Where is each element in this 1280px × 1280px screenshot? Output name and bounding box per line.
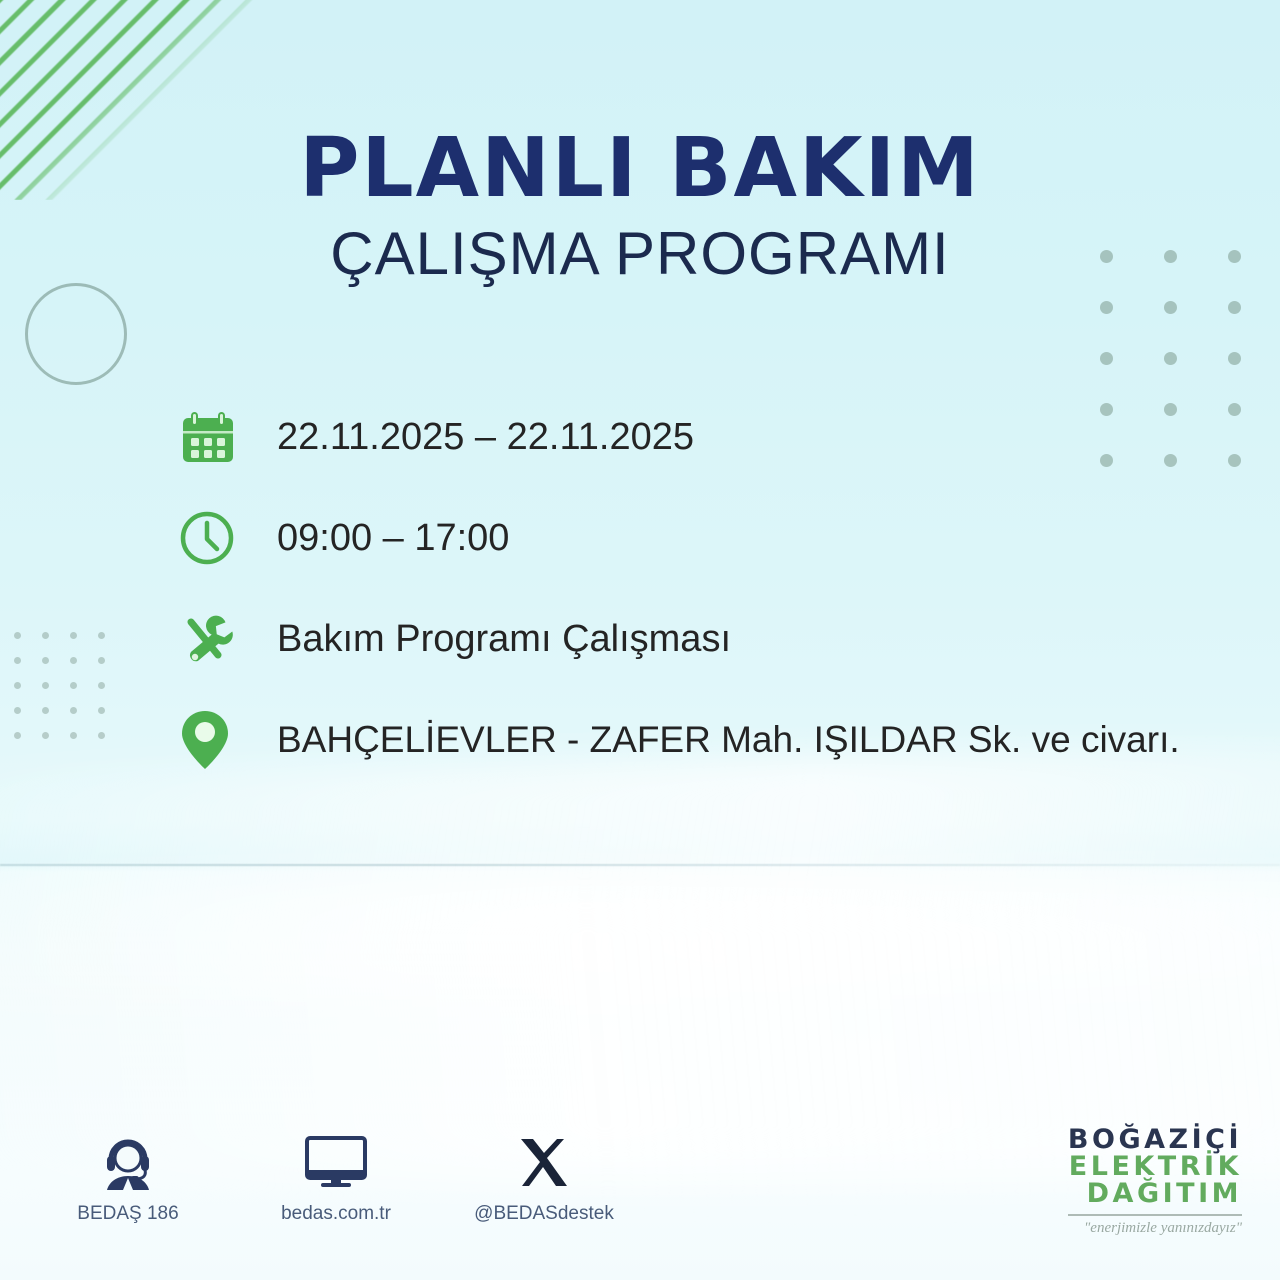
clock-icon: [178, 505, 244, 571]
contact-website[interactable]: bedas.com.tr: [260, 1130, 412, 1225]
location-pin-icon: [178, 707, 244, 773]
brand-line-elektrik: ELEKTRİK: [1068, 1153, 1242, 1180]
contact-channels: BEDAŞ 186 bedas.com.tr: [52, 1130, 620, 1225]
brand-tagline: "enerjimizle yanınızdayız": [1068, 1221, 1242, 1236]
brand-line-dagitim: DAĞITIM: [1068, 1180, 1242, 1207]
poster-canvas: PLANLI BAKIM ÇALIŞMA PROGRAMI: [0, 0, 1280, 1280]
page-title: PLANLI BAKIM: [0, 128, 1280, 210]
dot-grid-left-decoration: [14, 632, 129, 752]
calendar-icon: [178, 404, 244, 470]
monitor-icon: [301, 1130, 371, 1192]
background-light-wash-upper: [0, 746, 1280, 1005]
info-row-time: 09:00 – 17:00: [178, 505, 1238, 571]
poster-headline: PLANLI BAKIM ÇALIŞMA PROGRAMI: [0, 128, 1280, 284]
contact-x-social[interactable]: @BEDASdestek: [468, 1130, 620, 1225]
info-row-location: BAHÇELİEVLER - ZAFER Mah. IŞILDAR Sk. ve…: [178, 707, 1238, 773]
contact-call-center[interactable]: BEDAŞ 186: [52, 1130, 204, 1225]
outage-info-list: 22.11.2025 – 22.11.2025 09:00 – 17:00: [178, 404, 1238, 773]
contact-label-call-center: BEDAŞ 186: [77, 1203, 178, 1225]
brand-line-bogazici: BOĞAZİÇİ: [1068, 1126, 1242, 1153]
x-social-icon: [515, 1130, 573, 1192]
info-value-worktype: Bakım Programı Çalışması: [277, 618, 731, 661]
info-row-date: 22.11.2025 – 22.11.2025: [178, 404, 1238, 470]
headset-support-icon: [97, 1130, 159, 1192]
tools-icon: [178, 606, 244, 672]
poster-footer: BEDAŞ 186 bedas.com.tr: [0, 1120, 1280, 1280]
contact-label-x-social: @BEDASdestek: [474, 1203, 614, 1225]
section-divider-line: [0, 864, 1280, 866]
bedas-logo: BOĞAZİÇİ ELEKTRİK DAĞITIM "enerjimizle y…: [1068, 1126, 1242, 1236]
circle-outline-decoration: [25, 283, 127, 385]
contact-label-website: bedas.com.tr: [281, 1203, 391, 1225]
brand-rule-divider: [1068, 1214, 1242, 1216]
info-value-time: 09:00 – 17:00: [277, 517, 509, 560]
info-row-worktype: Bakım Programı Çalışması: [178, 606, 1238, 672]
info-value-location: BAHÇELİEVLER - ZAFER Mah. IŞILDAR Sk. ve…: [277, 719, 1180, 761]
info-value-date: 22.11.2025 – 22.11.2025: [277, 416, 694, 459]
page-subtitle: ÇALIŞMA PROGRAMI: [0, 224, 1280, 284]
